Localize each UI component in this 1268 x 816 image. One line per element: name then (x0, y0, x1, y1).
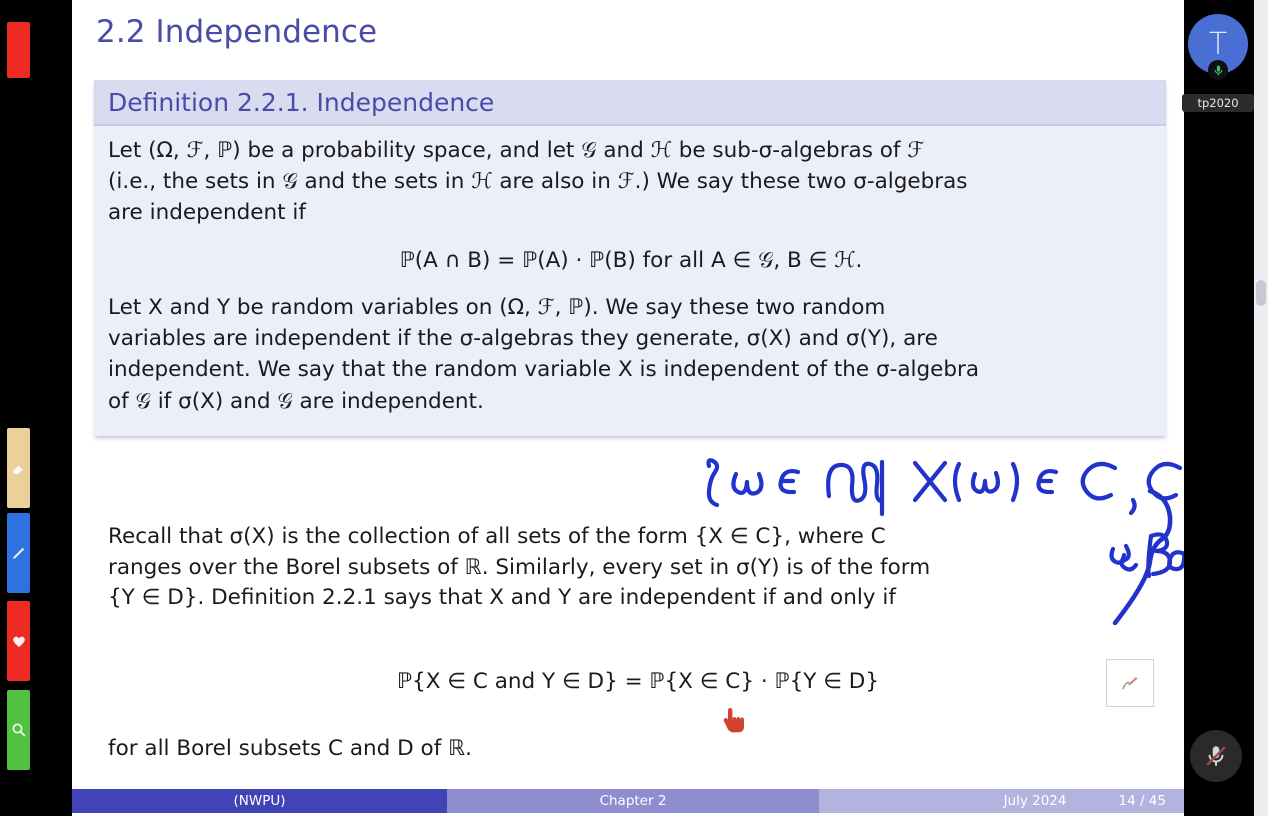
definition-para2-line4: of 𝒢 if σ(X) and 𝒢 are independent. (108, 387, 1154, 416)
definition-para1-line3: are independent if (108, 198, 1154, 227)
page-title: 2.2 Independence (96, 14, 377, 50)
right-gutter (1184, 0, 1254, 816)
definition-para2-line3: independent. We say that the random vari… (108, 355, 1154, 384)
footer-right-group: July 2024 14 / 45 (819, 789, 1184, 813)
zoom-green-tool[interactable] (7, 690, 30, 770)
body-line-2: ranges over the Borel subsets of ℝ. Simi… (108, 553, 1168, 584)
magnifier-icon (10, 721, 28, 739)
microphone-active-badge (1208, 60, 1228, 80)
footer-date: July 2024 (1004, 793, 1067, 809)
body-line-1: Recall that σ(X) is the collection of al… (108, 522, 1168, 553)
annotation-tool-rail (0, 0, 72, 816)
heart-red-tool[interactable] (7, 601, 30, 681)
scrollbar-thumb[interactable] (1256, 280, 1266, 306)
zoom-screenshare-window: 2.2 Independence Definition 2.2.1. Indep… (0, 0, 1268, 816)
body-line-3: {Y ∈ D}. Definition 2.2.1 says that X an… (108, 583, 1168, 614)
participant-name: tp2020 (1182, 94, 1254, 112)
definition-box: Definition 2.2.1. Independence Let (Ω, ℱ… (94, 80, 1166, 436)
body-last-line: for all Borel subsets C and D of ℝ. (108, 734, 472, 765)
participant-tile[interactable]: T tp2020 (1182, 14, 1254, 110)
heart-icon (10, 632, 28, 650)
annotation-pen-button[interactable] (1106, 659, 1154, 707)
pen-icon (1118, 671, 1142, 695)
definition-title: Definition 2.2.1. Independence (94, 80, 1166, 126)
body-equation: ℙ{X ∈ C and Y ∈ D} = ℙ{X ∈ C} · ℙ{Y ∈ D} (108, 667, 1168, 698)
definition-para1-line1: Let (Ω, ℱ, ℙ) be a probability space, an… (108, 136, 1154, 165)
slide-footer: (NWPU) Chapter 2 July 2024 14 / 45 (72, 789, 1184, 813)
shared-slide: 2.2 Independence Definition 2.2.1. Indep… (72, 0, 1184, 816)
definition-para1-line2: (i.e., the sets in 𝒢 and the sets in ℋ a… (108, 167, 1154, 196)
eraser-icon (10, 459, 28, 477)
body-text: Recall that σ(X) is the collection of al… (108, 522, 1168, 614)
footer-chapter: Chapter 2 (447, 789, 819, 813)
definition-content: Let (Ω, ℱ, ℙ) be a probability space, an… (94, 126, 1166, 436)
microphone-icon (1212, 64, 1225, 77)
mute-microphone-button[interactable] (1190, 730, 1242, 782)
definition-equation: ℙ(A ∩ B) = ℙ(A) · ℙ(B) for all A ∈ 𝒢, B … (108, 246, 1154, 275)
footer-page-number: 14 / 45 (1119, 793, 1167, 809)
hand-cursor (720, 707, 746, 737)
pen-blue-tool[interactable] (7, 513, 30, 593)
microphone-muted-icon (1203, 743, 1229, 769)
marker-red-top-tool[interactable] (7, 22, 30, 78)
eraser-tan-tool[interactable] (7, 428, 30, 508)
footer-institution: (NWPU) (72, 789, 447, 813)
avatar-initial: T (1209, 27, 1227, 62)
pen-icon (10, 544, 28, 562)
definition-para2-line1: Let X and Y be random variables on (Ω, ℱ… (108, 293, 1154, 322)
definition-para2-line2: variables are independent if the σ-algeb… (108, 324, 1154, 353)
vertical-scrollbar[interactable] (1254, 0, 1268, 816)
